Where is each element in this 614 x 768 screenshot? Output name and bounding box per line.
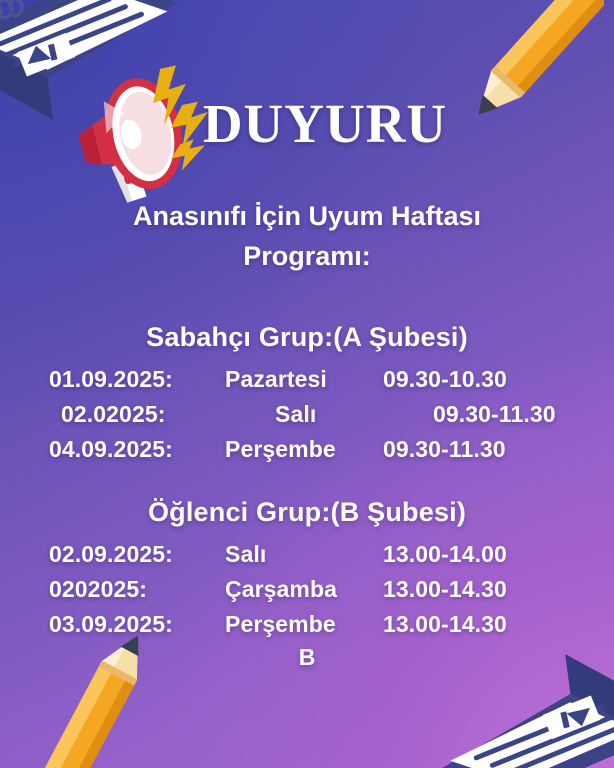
group-morning: Sabahçı Grup:(A Şubesi) 01.09.2025: Paza… <box>0 322 614 467</box>
schedule: Sabahçı Grup:(A Şubesi) 01.09.2025: Paza… <box>0 322 614 701</box>
schedule-row: 02.09.2025: Salı 13.00-14.00 <box>49 537 565 572</box>
row-date: 02.09.2025: <box>49 537 225 572</box>
row-date: 0202025: <box>49 572 225 607</box>
page-title: DUYURU <box>0 92 614 155</box>
row-time: 09.30-10.30 <box>383 362 565 397</box>
row-date: 03.09.2025: <box>49 607 225 642</box>
subtitle-line-1: Anasınıfı İçin Uyum Haftası <box>47 197 567 237</box>
row-day: Perşembe <box>225 607 383 642</box>
row-day: Perşembe <box>225 432 383 467</box>
group-rows: 02.09.2025: Salı 13.00-14.00 0202025: Ça… <box>49 537 565 642</box>
group-heading: Öğlenci Grup:(B Şubesi) <box>0 497 614 528</box>
row-day: Salı <box>237 397 433 432</box>
subtitle-line-2: Programı: <box>47 237 567 277</box>
row-day: Çarşamba <box>225 572 383 607</box>
schedule-row: 04.09.2025: Perşembe 09.30-11.30 <box>49 432 565 467</box>
row-day: Pazartesi <box>225 362 383 397</box>
schedule-row: 02.02025: Salı 09.30-11.30 <box>49 397 565 432</box>
schedule-row: 03.09.2025: Perşembe 13.00-14.30 <box>49 607 565 642</box>
schedule-row: 0202025: Çarşamba 13.00-14.30 <box>49 572 565 607</box>
group-afternoon: Öğlenci Grup:(B Şubesi) 02.09.2025: Salı… <box>0 497 614 671</box>
trailing-letter: B <box>0 644 614 671</box>
announcement-poster: DUYURU Anasınıfı İçin Uyum Haftası Progr… <box>0 0 614 768</box>
row-day: Salı <box>225 537 383 572</box>
row-time: 13.00-14.30 <box>383 607 565 642</box>
schedule-row: 01.09.2025: Pazartesi 09.30-10.30 <box>49 362 565 397</box>
row-date: 02.02025: <box>49 397 237 432</box>
row-time: 09.30-11.30 <box>433 397 565 432</box>
subtitle: Anasınıfı İçin Uyum Haftası Programı: <box>47 197 567 277</box>
group-heading: Sabahçı Grup:(A Şubesi) <box>0 322 614 353</box>
row-date: 04.09.2025: <box>49 432 225 467</box>
row-time: 09.30-11.30 <box>383 432 565 467</box>
group-rows: 01.09.2025: Pazartesi 09.30-10.30 02.020… <box>49 362 565 467</box>
row-time: 13.00-14.00 <box>383 537 565 572</box>
row-time: 13.00-14.30 <box>383 572 565 607</box>
row-date: 01.09.2025: <box>49 362 225 397</box>
